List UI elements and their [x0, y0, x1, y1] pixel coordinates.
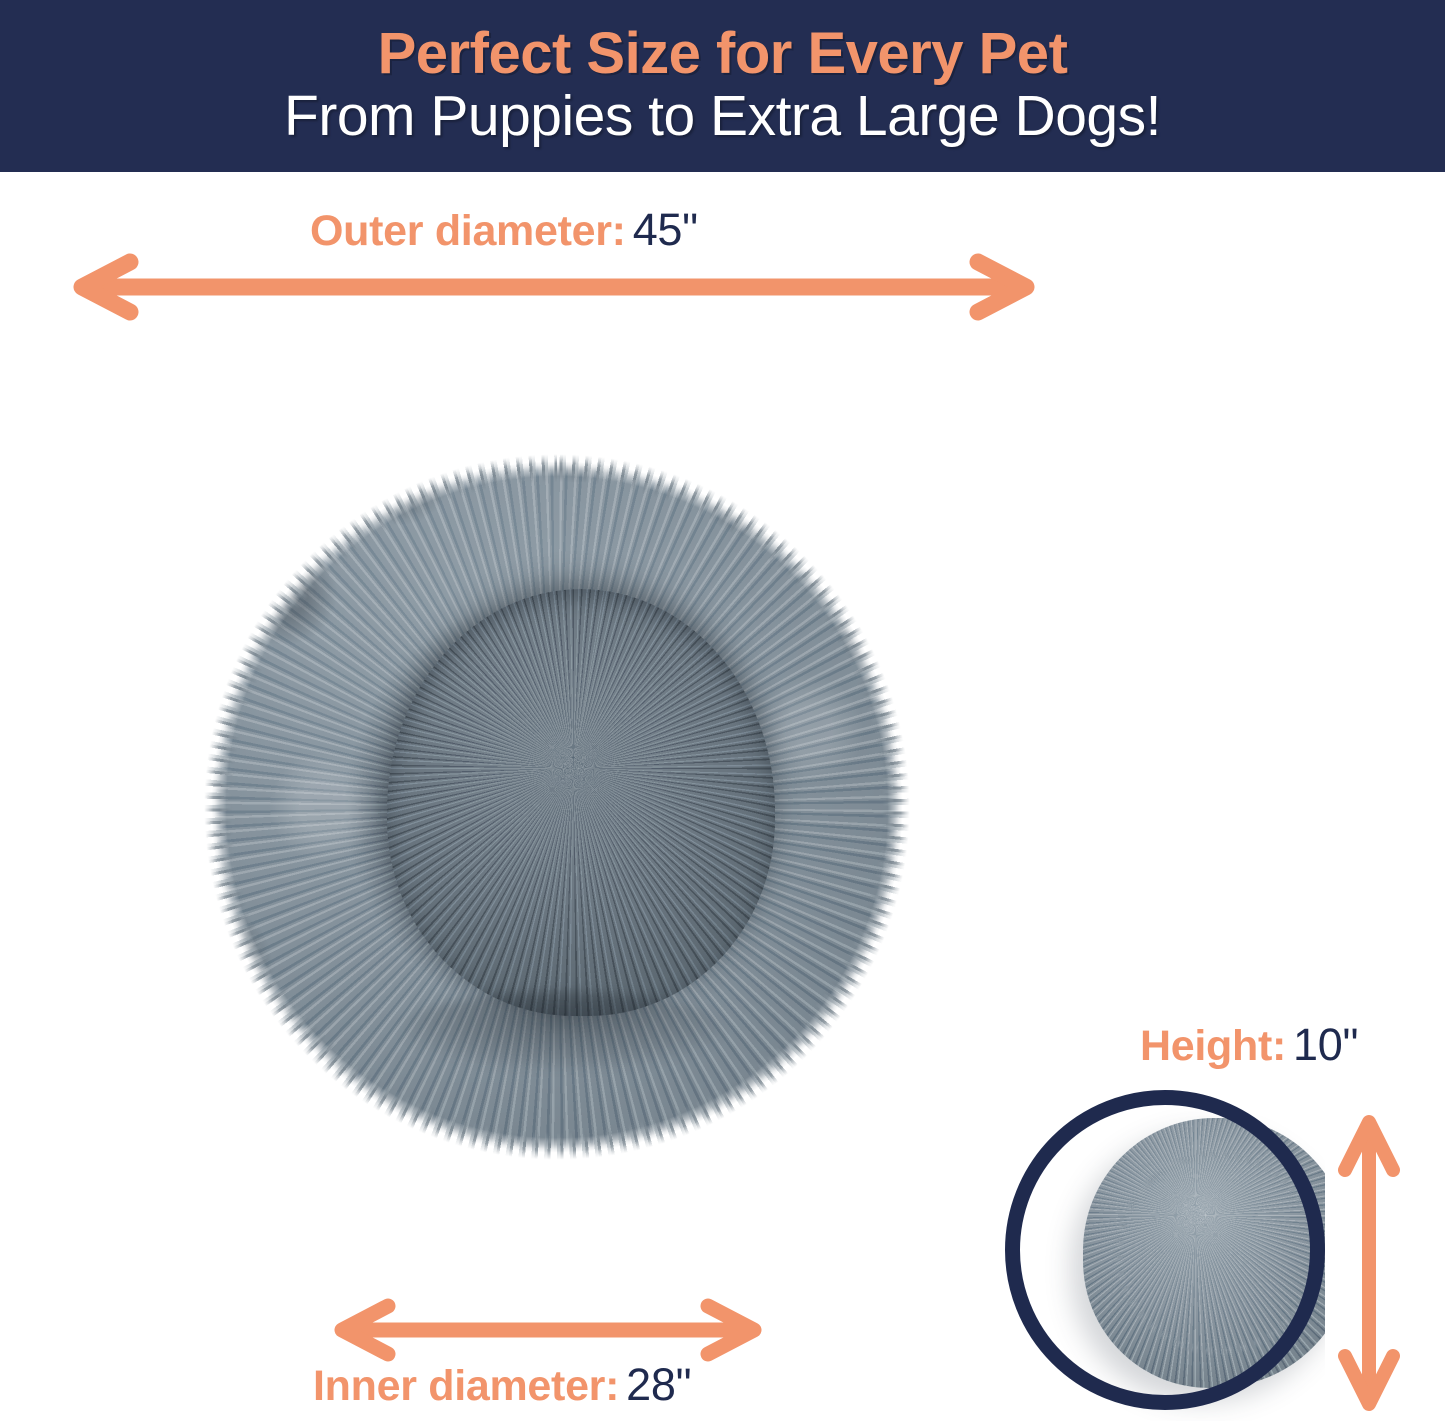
outer-diameter-value: 45" — [633, 204, 698, 255]
inner-nest-fur-overlay — [387, 589, 775, 1016]
height-circle-badge — [1005, 1090, 1325, 1410]
product-top-view-image — [72, 322, 1042, 1292]
inner-diameter-title: Inner diameter: — [313, 1362, 619, 1410]
inner-diameter-label: Inner diameter:28" — [313, 1362, 691, 1408]
height-value: 10" — [1293, 1019, 1358, 1070]
infographic-canvas: Perfect Size for Every Pet From Puppies … — [0, 0, 1445, 1421]
page-subtitle: From Puppies to Extra Large Dogs! — [284, 86, 1161, 148]
height-label: Height:10" — [1140, 1022, 1358, 1068]
header-banner: Perfect Size for Every Pet From Puppies … — [0, 0, 1445, 172]
fur-clump-overlay — [72, 322, 1042, 1292]
inner-diameter-value: 28" — [626, 1359, 691, 1410]
height-title: Height: — [1140, 1022, 1286, 1070]
outer-diameter-label: Outer diameter:45" — [310, 207, 698, 253]
fur-texture-overlay — [72, 322, 1042, 1292]
outer-diameter-title: Outer diameter: — [310, 207, 626, 255]
outer-diameter-arrow-icon — [68, 258, 1040, 316]
page-title: Perfect Size for Every Pet — [378, 24, 1068, 84]
inner-diameter-arrow-icon — [330, 1300, 766, 1360]
bed-seam-shadow — [402, 991, 722, 1069]
height-arrow-icon — [1338, 1112, 1400, 1414]
bed-inner-nest — [387, 589, 775, 1016]
